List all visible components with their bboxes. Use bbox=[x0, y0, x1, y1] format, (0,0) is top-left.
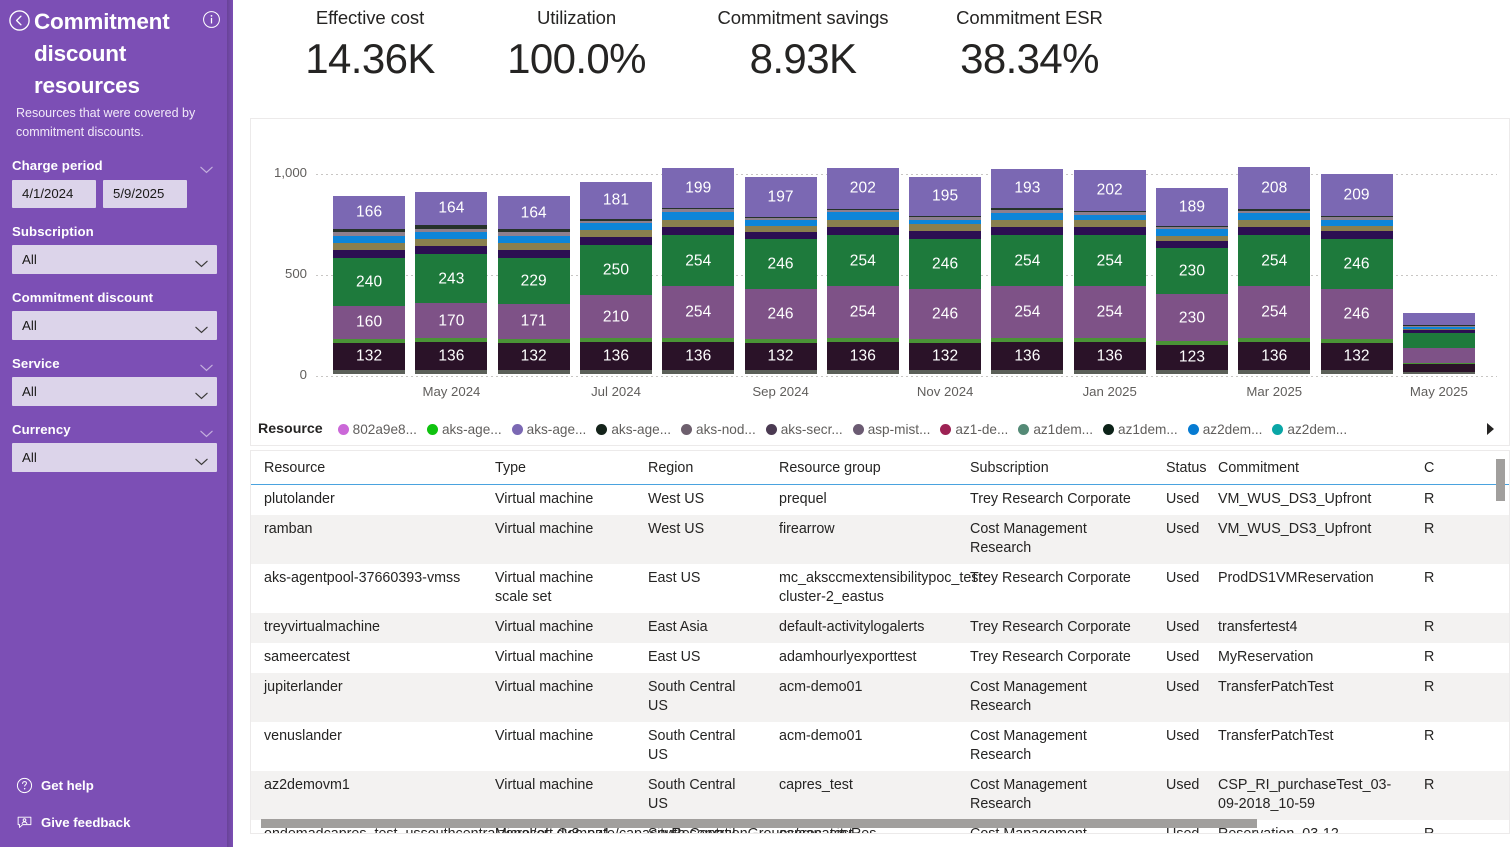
bar-segment[interactable] bbox=[827, 212, 899, 220]
bar-segment[interactable] bbox=[1074, 211, 1146, 213]
scrollbar-thumb[interactable] bbox=[1496, 459, 1505, 501]
bar-segment[interactable]: 209 bbox=[1321, 174, 1393, 216]
bar-data-label: 136 bbox=[991, 348, 1063, 364]
bar-segment[interactable] bbox=[909, 370, 981, 374]
table-cell: Cost Management Research bbox=[957, 673, 1153, 722]
service-select-value: All bbox=[22, 384, 37, 399]
bar-segment[interactable]: 123 bbox=[1156, 345, 1228, 370]
bar-segment[interactable] bbox=[333, 250, 405, 258]
bar-segment[interactable] bbox=[991, 227, 1063, 235]
table-cell: MyReservation bbox=[1205, 643, 1411, 673]
bar-segment[interactable] bbox=[1403, 327, 1475, 329]
legend-label: az2dem... bbox=[1287, 422, 1347, 437]
column-header[interactable]: Resource group bbox=[766, 451, 957, 485]
bar-data-label: 164 bbox=[415, 201, 487, 217]
x-axis-tick-label: Sep 2024 bbox=[721, 384, 841, 399]
bar-column[interactable]: 136254254193 bbox=[991, 169, 1063, 374]
bar-segment[interactable] bbox=[745, 220, 817, 226]
table-cell: R bbox=[1411, 673, 1509, 722]
table-cell: Trey Research Corporate bbox=[957, 485, 1153, 516]
bar-segment[interactable] bbox=[333, 370, 405, 374]
bar-segment[interactable]: 254 bbox=[662, 235, 734, 286]
bar-segment[interactable] bbox=[909, 220, 981, 224]
legend-item[interactable]: aks-age... bbox=[596, 422, 671, 437]
bar-segment[interactable] bbox=[909, 224, 981, 231]
bar-segment[interactable] bbox=[827, 227, 899, 235]
x-axis-tick-label: Nov 2024 bbox=[885, 384, 1005, 399]
sidebar-header: Commitment discount resources Resources … bbox=[0, 0, 233, 142]
bar-segment[interactable]: 254 bbox=[991, 286, 1063, 337]
table-row[interactable]: jupiterlanderVirtual machineSouth Centra… bbox=[251, 673, 1509, 722]
bar-data-label: 246 bbox=[909, 306, 981, 322]
bar-column[interactable]: 132246246197 bbox=[745, 177, 817, 374]
legend-label: aks-nod... bbox=[696, 422, 756, 437]
bar-segment[interactable] bbox=[1403, 329, 1475, 330]
column-header[interactable]: Region bbox=[635, 451, 766, 485]
bar-segment[interactable] bbox=[909, 217, 981, 220]
legend-item[interactable]: aks-nod... bbox=[681, 422, 756, 437]
bar-segment[interactable] bbox=[1156, 341, 1228, 345]
bar-segment[interactable]: 160 bbox=[333, 306, 405, 338]
table-row[interactable]: aks-agentpool-37660393-vmssVirtual machi… bbox=[251, 564, 1509, 613]
bar-segment[interactable] bbox=[333, 229, 405, 232]
bar-segment[interactable] bbox=[1403, 364, 1475, 372]
legend-color-swatch bbox=[338, 424, 349, 435]
kpi-utilization: Utilization 100.0% bbox=[464, 0, 689, 112]
bar-segment[interactable]: 254 bbox=[662, 286, 734, 337]
filter-currency: Currency All bbox=[0, 422, 233, 472]
legend-item[interactable]: az2dem... bbox=[1272, 422, 1347, 437]
bar-column[interactable]: 136210250181 bbox=[580, 182, 652, 374]
bar-segment[interactable]: 136 bbox=[827, 342, 899, 369]
chevron-down-icon[interactable] bbox=[200, 359, 213, 367]
bar-data-label: 246 bbox=[1321, 256, 1393, 272]
bar-segment[interactable] bbox=[333, 243, 405, 250]
bar-column[interactable]: 132160240166 bbox=[333, 196, 405, 374]
bar-segment[interactable] bbox=[1403, 348, 1475, 362]
bar-segment[interactable]: 164 bbox=[498, 196, 570, 229]
bar-segment[interactable]: 166 bbox=[333, 196, 405, 230]
bar-segment[interactable]: 132 bbox=[498, 343, 570, 370]
bar-segment[interactable] bbox=[498, 232, 570, 236]
legend-item[interactable]: aks-age... bbox=[427, 422, 502, 437]
column-header[interactable]: Resource bbox=[251, 451, 482, 485]
bar-data-label: 254 bbox=[662, 253, 734, 269]
table-cell: TransferPatchTest bbox=[1205, 673, 1411, 722]
kpi-commitment-esr: Commitment ESR 38.34% bbox=[917, 0, 1142, 112]
charge-period-end-input[interactable]: 5/9/2025 bbox=[103, 180, 187, 208]
bar-segment[interactable] bbox=[415, 232, 487, 239]
table-cell: capres_test bbox=[766, 771, 957, 820]
gridline bbox=[316, 376, 1497, 377]
table-cell: R bbox=[1411, 771, 1509, 820]
table-cell: ramban bbox=[251, 515, 482, 564]
bar-segment[interactable] bbox=[991, 213, 1063, 221]
bar-data-label: 136 bbox=[827, 348, 899, 364]
y-axis-tick-label: 1,000 bbox=[255, 165, 307, 180]
kpi-row: Effective cost 14.36K Utilization 100.0%… bbox=[250, 0, 1510, 112]
table-row[interactable]: sameercatestVirtual machineEast USadamho… bbox=[251, 643, 1509, 673]
bar-data-label: 132 bbox=[333, 349, 405, 365]
bar-segment[interactable] bbox=[662, 227, 734, 235]
bar-segment[interactable] bbox=[333, 339, 405, 343]
bar-data-label: 181 bbox=[580, 193, 652, 209]
legend-item[interactable]: aks-age... bbox=[512, 422, 587, 437]
table-row[interactable]: venuslanderVirtual machineSouth Central … bbox=[251, 722, 1509, 771]
currency-select[interactable]: All bbox=[12, 443, 217, 472]
bar-segment[interactable] bbox=[1403, 313, 1475, 326]
bar-segment[interactable]: 243 bbox=[415, 254, 487, 303]
kpi-value: 38.34% bbox=[917, 32, 1142, 86]
chart-legend: Resource 802a9e8...aks-age...aks-age...a… bbox=[251, 416, 1509, 442]
bar-segment[interactable]: 136 bbox=[991, 342, 1063, 369]
bar-segment[interactable] bbox=[415, 370, 487, 374]
bar-segment[interactable]: 199 bbox=[662, 168, 734, 208]
bar-data-label: 193 bbox=[991, 181, 1063, 197]
column-header[interactable]: Commitment bbox=[1205, 451, 1411, 485]
table-cell: R bbox=[1411, 515, 1509, 564]
commitment-discount-select[interactable]: All bbox=[12, 311, 217, 340]
bar-segment[interactable]: 250 bbox=[580, 245, 652, 295]
bar-segment[interactable]: 202 bbox=[827, 168, 899, 209]
bar-segment[interactable] bbox=[827, 209, 899, 211]
bar-segment[interactable] bbox=[909, 216, 981, 218]
bar-segment[interactable] bbox=[1403, 372, 1475, 374]
chevron-down-icon bbox=[195, 321, 208, 329]
bar-segment[interactable]: 254 bbox=[1238, 286, 1310, 337]
bar-data-label: 246 bbox=[745, 306, 817, 322]
bar-segment[interactable] bbox=[1238, 338, 1310, 342]
bar-column[interactable]: 136254254202 bbox=[827, 168, 899, 374]
bar-segment[interactable] bbox=[1074, 370, 1146, 374]
bar-segment[interactable] bbox=[827, 220, 899, 227]
bar-segment[interactable] bbox=[415, 246, 487, 254]
bar-segment[interactable] bbox=[498, 370, 570, 374]
bar-segment[interactable]: 136 bbox=[415, 342, 487, 369]
table-cell: TransferPatchTest bbox=[1205, 722, 1411, 771]
bar-segment[interactable] bbox=[1321, 339, 1393, 343]
bar-segment[interactable]: 210 bbox=[580, 295, 652, 337]
bar-column[interactable]: 136170243164 bbox=[415, 192, 487, 374]
subscription-select-value: All bbox=[22, 252, 37, 267]
table-cell: Cost Management Research bbox=[957, 515, 1153, 564]
bar-segment[interactable]: 164 bbox=[415, 192, 487, 225]
bar-segment[interactable]: 132 bbox=[909, 343, 981, 370]
column-header[interactable]: Subscription bbox=[957, 451, 1153, 485]
bar-data-label: 250 bbox=[580, 262, 652, 278]
info-circle-icon[interactable] bbox=[202, 10, 221, 29]
bar-segment[interactable] bbox=[991, 370, 1063, 374]
bar-segment[interactable] bbox=[580, 219, 652, 221]
kpi-title: Commitment savings bbox=[689, 0, 917, 28]
bar-segment[interactable]: 181 bbox=[580, 182, 652, 219]
bar-segment[interactable]: 229 bbox=[498, 258, 570, 304]
bar-segment[interactable] bbox=[1403, 326, 1475, 327]
bar-segment[interactable] bbox=[1238, 370, 1310, 374]
table-cell: R bbox=[1411, 643, 1509, 673]
table-row[interactable]: az2demovm1Virtual machineSouth Central U… bbox=[251, 771, 1509, 820]
bar-segment[interactable]: 136 bbox=[580, 342, 652, 369]
subscription-select[interactable]: All bbox=[12, 245, 217, 274]
bar-column[interactable]: 136254254202 bbox=[1074, 170, 1146, 374]
bar-segment[interactable] bbox=[1403, 325, 1475, 326]
bar-data-label: 246 bbox=[1321, 306, 1393, 322]
table-row[interactable]: plutolanderVirtual machineWest USprequel… bbox=[251, 485, 1509, 516]
x-axis-tick-label: May 2025 bbox=[1379, 384, 1499, 399]
bar-segment[interactable] bbox=[827, 210, 899, 212]
bar-segment[interactable] bbox=[580, 237, 652, 245]
bar-segment[interactable] bbox=[1074, 215, 1146, 220]
table-cell: ProdDS1VMReservation bbox=[1205, 564, 1411, 613]
bar-segment[interactable]: 132 bbox=[333, 343, 405, 370]
currency-select-value: All bbox=[22, 450, 37, 465]
bar-segment[interactable] bbox=[1403, 330, 1475, 332]
table-cell: aks-agentpool-37660393-vmss bbox=[251, 564, 482, 613]
bar-segment[interactable] bbox=[1156, 229, 1228, 236]
bar-segment[interactable] bbox=[662, 370, 734, 374]
kpi-value: 14.36K bbox=[276, 32, 464, 86]
bar-column[interactable]: 132246246195 bbox=[909, 177, 981, 375]
legend-label: aks-age... bbox=[442, 422, 502, 437]
bar-segment[interactable] bbox=[745, 370, 817, 374]
bar-segment[interactable] bbox=[415, 338, 487, 342]
bar-data-label: 171 bbox=[498, 314, 570, 330]
bar-segment[interactable]: 246 bbox=[1321, 289, 1393, 339]
bar-segment[interactable]: 136 bbox=[662, 342, 734, 369]
bar-segment[interactable] bbox=[1403, 363, 1475, 365]
table-cell: adamhourlyexporttest bbox=[766, 643, 957, 673]
table-cell: firearrow bbox=[766, 515, 957, 564]
bar-segment[interactable] bbox=[498, 236, 570, 243]
bar-segment[interactable] bbox=[580, 338, 652, 342]
bar-segment[interactable]: 254 bbox=[1074, 235, 1146, 286]
legend-label: aks-age... bbox=[527, 422, 587, 437]
column-header[interactable]: C bbox=[1411, 451, 1509, 485]
bar-segment[interactable]: 254 bbox=[991, 235, 1063, 286]
table-cell: CSP_RI_purchaseTest_03-09-2018_10-59 bbox=[1205, 771, 1411, 820]
chevron-down-icon[interactable] bbox=[200, 161, 213, 169]
bar-segment[interactable] bbox=[498, 339, 570, 343]
bar-segment[interactable]: 246 bbox=[1321, 239, 1393, 289]
bar-segment[interactable]: 136 bbox=[1074, 342, 1146, 369]
bar-column[interactable] bbox=[1403, 313, 1475, 374]
bar-segment[interactable] bbox=[909, 231, 981, 239]
table-cell: VM_WUS_DS3_Upfront bbox=[1205, 515, 1411, 564]
bar-segment[interactable] bbox=[745, 226, 817, 232]
bar-segment[interactable] bbox=[333, 236, 405, 243]
x-axis-tick-label: May 2024 bbox=[391, 384, 511, 399]
bar-segment[interactable] bbox=[991, 210, 1063, 213]
bar-segment[interactable] bbox=[745, 339, 817, 343]
legend-item[interactable]: asp-mist... bbox=[853, 422, 931, 437]
table-cell: Used bbox=[1153, 643, 1205, 673]
bar-segment[interactable] bbox=[1321, 231, 1393, 239]
table-cell: West US bbox=[635, 515, 766, 564]
bar-segment[interactable]: 254 bbox=[1238, 235, 1310, 286]
table-cell: Virtual machine bbox=[482, 613, 635, 643]
bar-data-label: 132 bbox=[745, 349, 817, 365]
legend-label: asp-mist... bbox=[868, 422, 931, 437]
legend-item[interactable]: aks-secr... bbox=[766, 422, 843, 437]
bar-segment[interactable] bbox=[1238, 209, 1310, 211]
bar-segment[interactable] bbox=[662, 209, 734, 212]
bar-segment[interactable] bbox=[745, 232, 817, 240]
bar-segment[interactable]: 197 bbox=[745, 177, 817, 217]
bar-segment[interactable] bbox=[991, 338, 1063, 342]
bar-segment[interactable]: 193 bbox=[991, 169, 1063, 208]
charge-period-start-input[interactable]: 4/1/2024 bbox=[12, 180, 96, 208]
bar-segment[interactable] bbox=[1321, 226, 1393, 232]
bar-segment[interactable] bbox=[415, 239, 487, 246]
table-cell: Virtual machine bbox=[482, 722, 635, 771]
bar-data-label: 208 bbox=[1238, 181, 1310, 197]
bar-segment[interactable] bbox=[333, 232, 405, 236]
bar-segment[interactable] bbox=[415, 229, 487, 233]
legend-item[interactable]: az1dem... bbox=[1103, 422, 1178, 437]
column-header[interactable]: Status bbox=[1153, 451, 1205, 485]
bar-segment[interactable] bbox=[1238, 220, 1310, 227]
legend-label: az1dem... bbox=[1118, 422, 1178, 437]
table-cell: West US bbox=[635, 485, 766, 516]
kpi-title: Commitment ESR bbox=[917, 0, 1142, 28]
back-arrow-icon[interactable] bbox=[8, 9, 31, 32]
bar-segment[interactable] bbox=[498, 229, 570, 232]
bar-segment[interactable] bbox=[1074, 227, 1146, 235]
bar-segment[interactable] bbox=[662, 338, 734, 342]
bar-segment[interactable] bbox=[1238, 227, 1310, 235]
bar-segment[interactable] bbox=[1321, 217, 1393, 219]
legend-label: az1dem... bbox=[1033, 422, 1093, 437]
table-cell: mc_aksccmextensibilitypoc_test-cluster-2… bbox=[766, 564, 957, 613]
bar-column[interactable]: 136254254199 bbox=[662, 168, 734, 374]
bar-segment[interactable] bbox=[415, 225, 487, 229]
bar-segment[interactable] bbox=[1156, 236, 1228, 240]
bar-segment[interactable]: 254 bbox=[827, 286, 899, 337]
bar-segment[interactable] bbox=[1074, 220, 1146, 227]
bar-segment[interactable]: 230 bbox=[1156, 294, 1228, 340]
get-help-button[interactable]: Get help bbox=[16, 767, 233, 804]
bar-segment[interactable] bbox=[1156, 226, 1228, 228]
bar-data-label: 254 bbox=[1238, 304, 1310, 320]
bar-segment[interactable] bbox=[745, 218, 817, 220]
legend-item[interactable]: az1dem... bbox=[1018, 422, 1093, 437]
bar-segment[interactable] bbox=[827, 370, 899, 374]
bar-segment[interactable] bbox=[1403, 333, 1475, 349]
bar-data-label: 230 bbox=[1156, 263, 1228, 279]
bar-column[interactable]: 136254254208 bbox=[1238, 167, 1310, 374]
bar-segment[interactable] bbox=[1321, 220, 1393, 226]
legend-item[interactable]: az1-de... bbox=[940, 422, 1008, 437]
bar-segment[interactable] bbox=[909, 339, 981, 343]
bar-segment[interactable] bbox=[991, 208, 1063, 210]
bar-segment[interactable]: 254 bbox=[1074, 286, 1146, 337]
bar-segment[interactable] bbox=[827, 338, 899, 342]
bar-segment[interactable] bbox=[662, 212, 734, 220]
kpi-title: Effective cost bbox=[276, 0, 464, 28]
bar-segment[interactable]: 246 bbox=[745, 289, 817, 339]
bar-segment[interactable]: 230 bbox=[1156, 248, 1228, 294]
bar-data-label: 136 bbox=[662, 348, 734, 364]
give-feedback-button[interactable]: Give feedback bbox=[16, 804, 233, 841]
bar-segment[interactable]: 240 bbox=[333, 258, 405, 306]
bar-segment[interactable]: 170 bbox=[415, 303, 487, 337]
bar-data-label: 254 bbox=[827, 253, 899, 269]
bar-segment[interactable] bbox=[498, 250, 570, 258]
bar-segment[interactable] bbox=[1156, 241, 1228, 248]
bar-segment[interactable] bbox=[1238, 211, 1310, 213]
column-header[interactable]: Type bbox=[482, 451, 635, 485]
bar-data-label: 166 bbox=[333, 205, 405, 221]
legend-item[interactable]: 802a9e8... bbox=[338, 422, 417, 437]
bar-data-label: 132 bbox=[1321, 349, 1393, 365]
bar-column[interactable]: 123230230189 bbox=[1156, 188, 1228, 374]
bar-segment[interactable] bbox=[745, 217, 817, 218]
bar-segment[interactable]: 171 bbox=[498, 304, 570, 339]
horizontal-scrollbar[interactable] bbox=[261, 819, 1491, 828]
bar-data-label: 230 bbox=[1156, 310, 1228, 326]
bar-data-label: 209 bbox=[1321, 187, 1393, 203]
scrollbar-thumb[interactable] bbox=[261, 819, 1257, 828]
bar-segment[interactable] bbox=[1156, 370, 1228, 374]
bar-segment[interactable]: 189 bbox=[1156, 188, 1228, 226]
bar-segment[interactable] bbox=[662, 208, 734, 210]
vertical-scrollbar[interactable] bbox=[1496, 459, 1505, 825]
bar-segment[interactable]: 132 bbox=[745, 343, 817, 370]
bar-segment[interactable] bbox=[1321, 370, 1393, 374]
bar-segment[interactable]: 246 bbox=[745, 239, 817, 289]
legend-color-swatch bbox=[596, 424, 607, 435]
bar-segment[interactable]: 246 bbox=[909, 289, 981, 339]
bar-segment[interactable]: 136 bbox=[1238, 342, 1310, 369]
chevron-down-icon bbox=[195, 453, 208, 461]
table-row[interactable]: treyvirtualmachineVirtual machineEast As… bbox=[251, 613, 1509, 643]
kpi-effective-cost: Effective cost 14.36K bbox=[276, 0, 464, 112]
table-cell: Virtual machine bbox=[482, 771, 635, 820]
bar-segment[interactable]: 195 bbox=[909, 177, 981, 216]
bar-segment[interactable] bbox=[498, 243, 570, 250]
bar-segment[interactable]: 254 bbox=[827, 235, 899, 286]
bar-segment[interactable]: 132 bbox=[1321, 343, 1393, 370]
bar-column[interactable]: 132171229164 bbox=[498, 196, 570, 374]
service-select[interactable]: All bbox=[12, 377, 217, 406]
bar-segment[interactable]: 202 bbox=[1074, 170, 1146, 211]
bar-segment[interactable]: 246 bbox=[909, 239, 981, 289]
legend-label: az1-de... bbox=[955, 422, 1008, 437]
bar-segment[interactable] bbox=[1321, 216, 1393, 218]
legend-color-swatch bbox=[1103, 424, 1114, 435]
bar-segment[interactable] bbox=[662, 220, 734, 227]
bar-segment[interactable] bbox=[580, 370, 652, 374]
table-cell: South Central US bbox=[635, 673, 766, 722]
table-row[interactable]: rambanVirtual machineWest USfirearrowCos… bbox=[251, 515, 1509, 564]
filter-label-commitment-discount: Commitment discount bbox=[12, 290, 153, 305]
bar-segment[interactable] bbox=[1074, 338, 1146, 342]
bar-segment[interactable] bbox=[1074, 212, 1146, 214]
bar-column[interactable]: 132246246209 bbox=[1321, 174, 1393, 374]
chevron-right-icon[interactable] bbox=[1483, 421, 1497, 437]
bar-segment[interactable] bbox=[1238, 213, 1310, 220]
bar-segment[interactable] bbox=[1156, 227, 1228, 229]
legend-item[interactable]: az2dem... bbox=[1188, 422, 1263, 437]
bar-segment[interactable] bbox=[991, 220, 1063, 227]
bar-segment[interactable] bbox=[580, 221, 652, 223]
bar-segment[interactable] bbox=[580, 230, 652, 237]
bar-segment[interactable] bbox=[580, 223, 652, 231]
chevron-down-icon[interactable] bbox=[200, 425, 213, 433]
bar-data-label: 246 bbox=[909, 256, 981, 272]
bar-segment[interactable]: 208 bbox=[1238, 167, 1310, 209]
table-cell: Used bbox=[1153, 515, 1205, 564]
